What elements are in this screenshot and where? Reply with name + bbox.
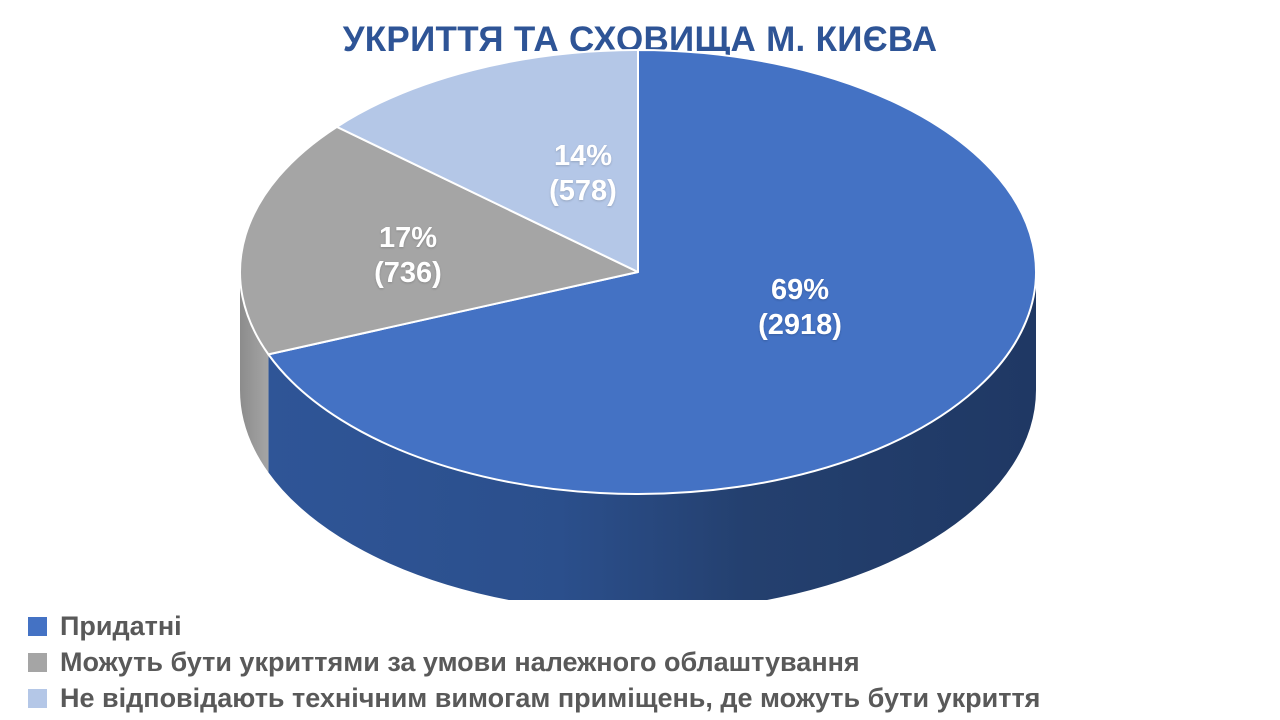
- pie-slices-group: [240, 50, 1036, 600]
- legend-swatch-icon: [28, 617, 47, 636]
- legend-item-mozhut-buty[interactable]: Можуть бути укриттями за умови належного…: [28, 644, 1278, 680]
- legend-swatch-icon: [28, 689, 47, 708]
- pie-svg: [0, 0, 1280, 600]
- legend-item-label: Не відповідають технічним вимогам приміщ…: [60, 685, 1040, 712]
- chart-legend: Придатні Можуть бути укриттями за умови …: [28, 608, 1278, 716]
- legend-swatch-icon: [28, 653, 47, 672]
- legend-item-ne-vidpovidayut[interactable]: Не відповідають технічним вимогам приміщ…: [28, 680, 1278, 716]
- pie-plot-area: 69% (2918) 17% (736) 14% (578): [0, 0, 1280, 600]
- legend-item-label: Придатні: [60, 613, 182, 640]
- legend-item-label: Можуть бути укриттями за умови належного…: [60, 649, 860, 676]
- pie-chart-figure: УКРИТТЯ ТА СХОВИЩА М. КИЄВА станом на 9 …: [0, 0, 1280, 720]
- legend-item-pridatni[interactable]: Придатні: [28, 608, 1278, 644]
